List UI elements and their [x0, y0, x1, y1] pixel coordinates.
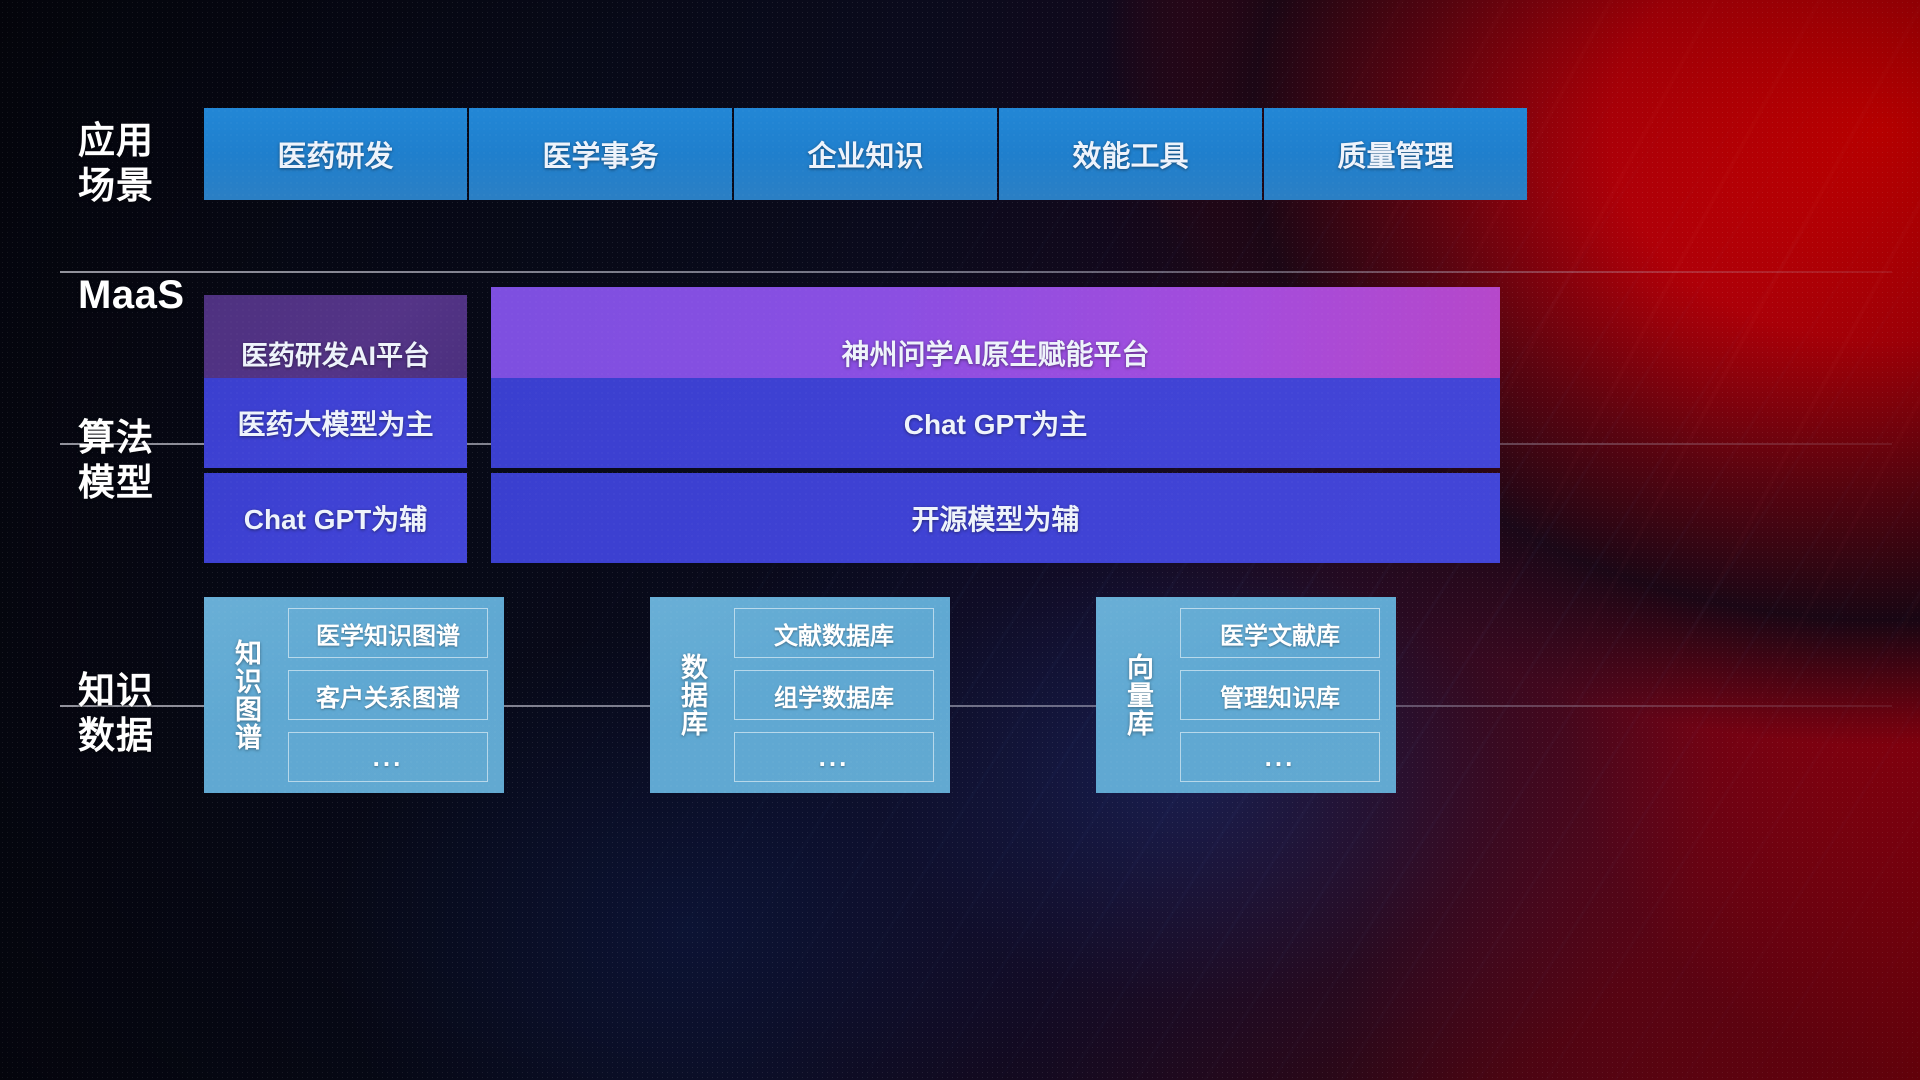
algo-card-chatgpt-secondary[interactable]: Chat GPT为辅 [204, 473, 467, 563]
algo-card-chatgpt-primary[interactable]: Chat GPT为主 [491, 378, 1500, 468]
row-label-maas: MaaS [78, 271, 208, 320]
app-card-quality-management[interactable]: 质量管理 [1264, 108, 1527, 200]
knowledge-group-database-vertical-label: 数据库 [660, 608, 722, 782]
knowledge-group-vector-store-items: 医学文献库 管理知识库 ... [1180, 608, 1384, 782]
divider-application-maas [60, 271, 1892, 273]
knowledge-item-management-knowledge-store[interactable]: 管理知识库 [1180, 670, 1380, 720]
app-card-enterprise-knowledge-label: 企业知识 [807, 133, 923, 175]
algo-card-chatgpt-primary-label: Chat GPT为主 [904, 403, 1088, 443]
knowledge-group-vector-store[interactable]: 向量库 医学文献库 管理知识库 ... [1096, 597, 1396, 793]
knowledge-group-database[interactable]: 数据库 文献数据库 组学数据库 ... [650, 597, 950, 793]
row-label-knowledge-line2: 数据 [78, 713, 208, 758]
row-label-application-line1: 应用 [78, 118, 208, 163]
knowledge-group-vector-store-vertical-label: 向量库 [1106, 608, 1168, 782]
row-label-algorithm-line1: 算法 [78, 415, 208, 460]
app-card-efficiency-tools[interactable]: 效能工具 [999, 108, 1262, 200]
row-label-application-line2: 场景 [78, 163, 208, 208]
knowledge-item-medical-knowledge-graph[interactable]: 医学知识图谱 [288, 608, 488, 658]
app-card-enterprise-knowledge[interactable]: 企业知识 [734, 108, 997, 200]
knowledge-item-more-database[interactable]: ... [734, 732, 934, 782]
knowledge-group-knowledge-graph-items: 医学知识图谱 客户关系图谱 ... [288, 608, 492, 782]
row-label-knowledge-line1: 知识 [78, 668, 208, 713]
row-label-algorithm-model: 算法 模型 [78, 415, 208, 505]
knowledge-group-knowledge-graph[interactable]: 知识图谱 医学知识图谱 客户关系图谱 ... [204, 597, 504, 793]
algo-card-pharma-large-model-primary[interactable]: 医药大模型为主 [204, 378, 467, 468]
knowledge-group-knowledge-graph-vertical-label: 知识图谱 [214, 608, 276, 782]
algo-card-pharma-large-model-primary-label: 医药大模型为主 [237, 403, 433, 443]
knowledge-item-customer-relation-graph[interactable]: 客户关系图谱 [288, 670, 488, 720]
row-label-application-scenario: 应用 场景 [78, 118, 208, 208]
knowledge-item-literature-database[interactable]: 文献数据库 [734, 608, 934, 658]
knowledge-group-database-items: 文献数据库 组学数据库 ... [734, 608, 938, 782]
knowledge-item-medical-literature-store[interactable]: 医学文献库 [1180, 608, 1380, 658]
app-card-efficiency-tools-label: 效能工具 [1072, 133, 1188, 175]
architecture-diagram-slide: 应用 场景 医药研发 医学事务 企业知识 效能工具 质量管理 MaaS [0, 0, 1920, 1080]
knowledge-item-more-knowledge-graph[interactable]: ... [288, 732, 488, 782]
maas-card-drug-rd-ai-platform-label: 医药研发AI平台 [241, 334, 430, 373]
app-card-medical-affairs-label: 医学事务 [542, 133, 658, 175]
row-label-knowledge-data: 知识 数据 [78, 668, 208, 758]
knowledge-item-more-vector-store[interactable]: ... [1180, 732, 1380, 782]
app-card-medical-affairs[interactable]: 医学事务 [469, 108, 732, 200]
row-label-algorithm-line2: 模型 [78, 460, 208, 505]
algo-card-chatgpt-secondary-label: Chat GPT为辅 [244, 498, 428, 538]
app-card-drug-rd-label: 医药研发 [277, 133, 393, 175]
maas-card-shenzhou-wenxue-platform-label: 神州问学AI原生赋能平台 [841, 333, 1149, 373]
app-card-quality-management-label: 质量管理 [1337, 133, 1453, 175]
app-card-drug-rd[interactable]: 医药研发 [204, 108, 467, 200]
knowledge-item-omics-database[interactable]: 组学数据库 [734, 670, 934, 720]
algo-card-open-source-secondary-label: 开源模型为辅 [911, 498, 1079, 538]
row-label-maas-text: MaaS [78, 271, 208, 320]
algo-card-open-source-secondary[interactable]: 开源模型为辅 [491, 473, 1500, 563]
